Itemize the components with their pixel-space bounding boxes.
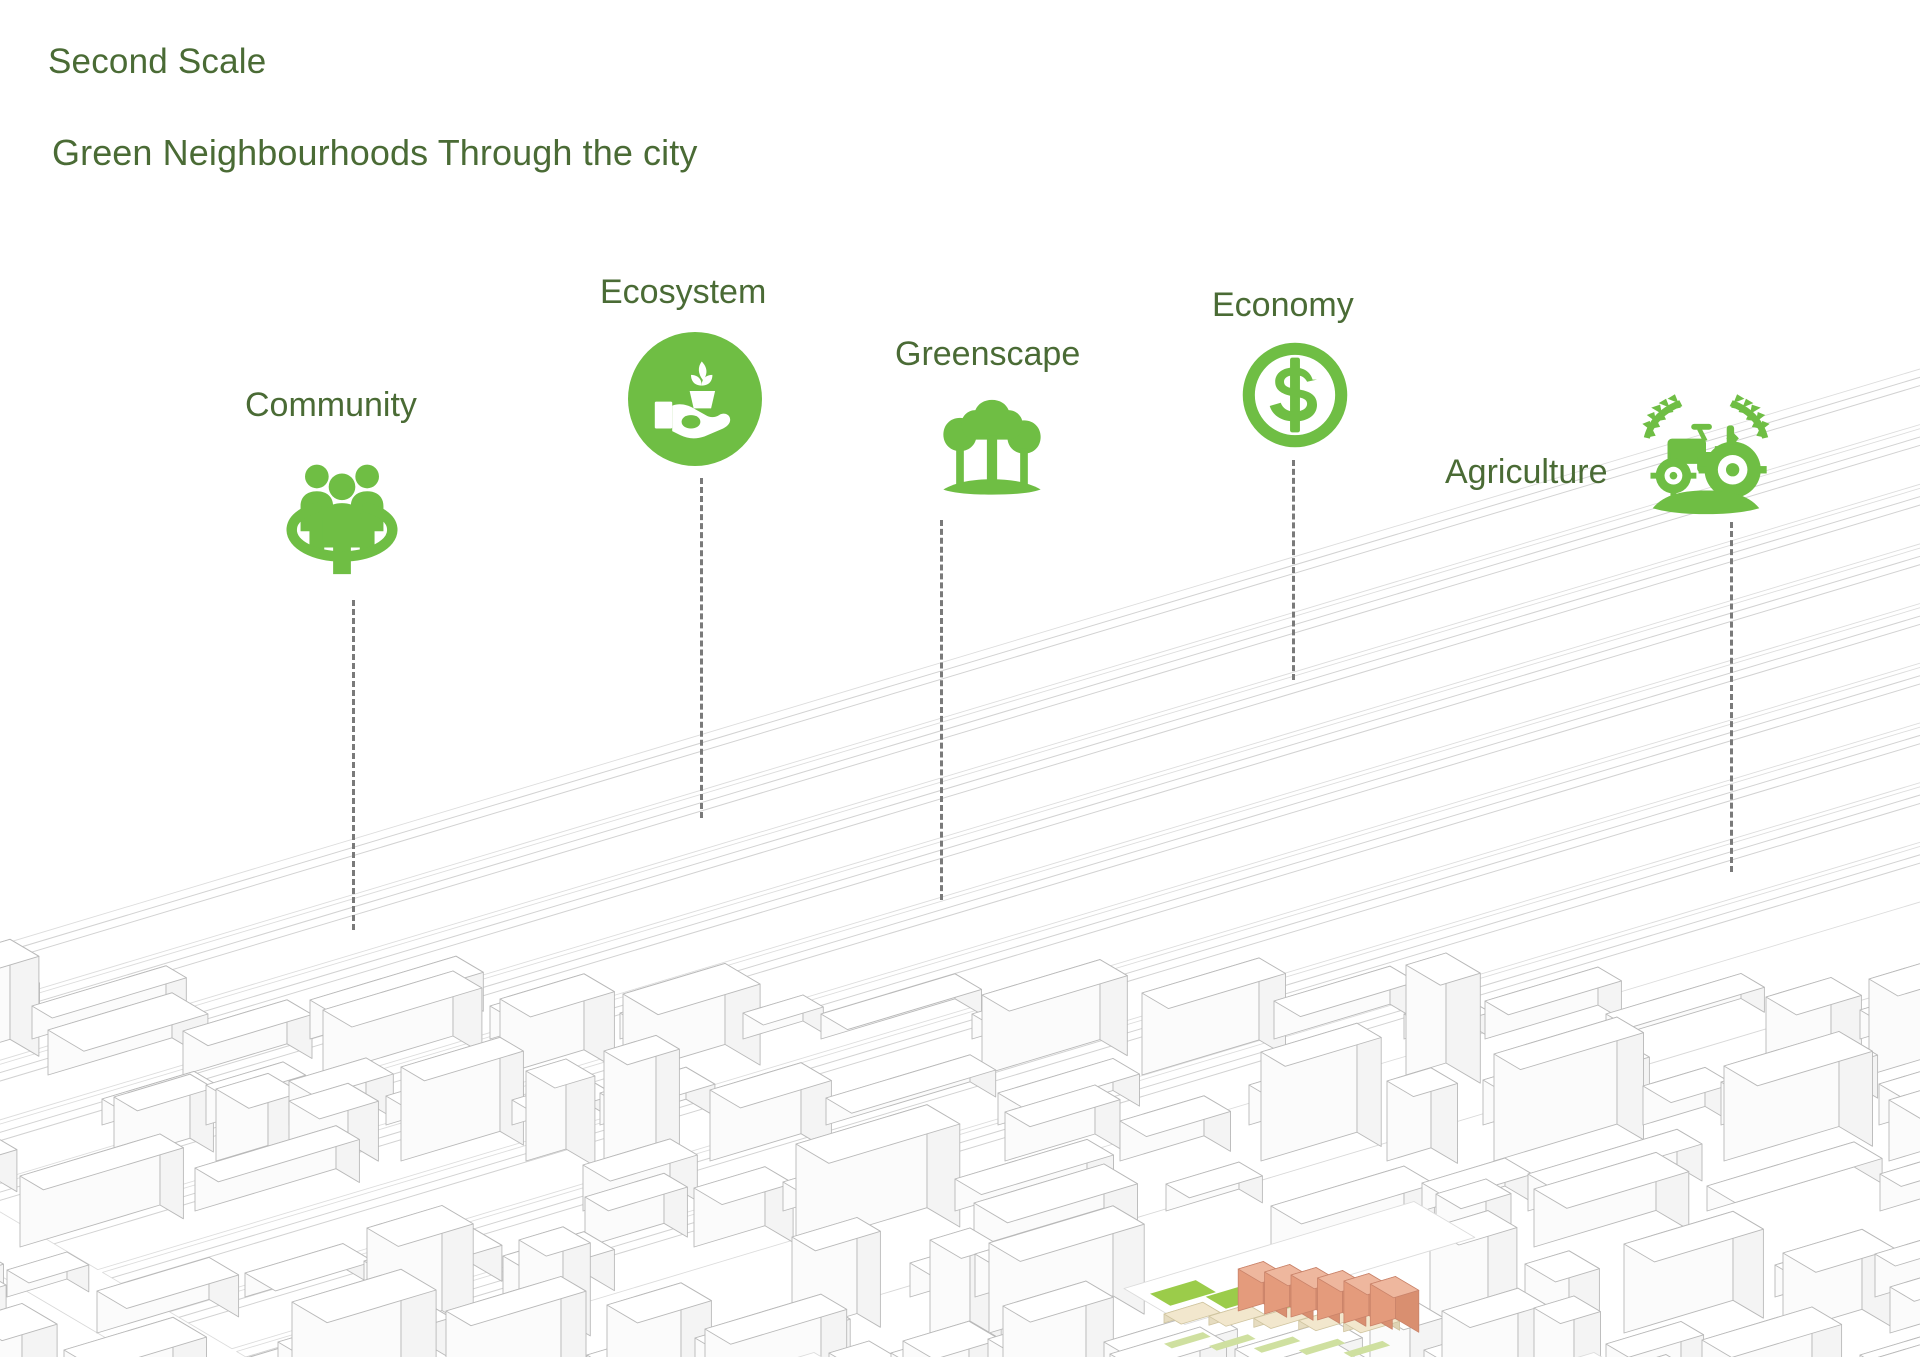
people-group-icon xyxy=(268,438,416,586)
callout-label-ecosystem: Ecosystem xyxy=(600,275,766,309)
hand-holding-plant-icon xyxy=(628,332,762,466)
dollar-coin-icon xyxy=(1240,340,1350,450)
callout-leader-community xyxy=(352,600,355,930)
trees-icon xyxy=(928,382,1056,510)
street-band xyxy=(170,610,1920,1349)
street-band xyxy=(0,491,1920,1230)
callout-leader-economy xyxy=(1292,460,1295,680)
street-band xyxy=(103,570,1920,1309)
callout-label-community: Community xyxy=(245,388,417,422)
city-axonometric-diagram xyxy=(0,0,1920,1357)
callout-leader-ecosystem xyxy=(700,478,703,818)
callout-icon-agriculture[interactable] xyxy=(1632,378,1780,526)
intervention-cluster xyxy=(454,1353,875,1357)
street-band xyxy=(35,531,1920,1270)
callout-label-greenscape: Greenscape xyxy=(895,337,1080,371)
intervention-cluster xyxy=(1234,1353,1655,1357)
callout-label-agriculture: Agriculture xyxy=(1445,455,1608,489)
page-subtitle: Green Neighbourhoods Through the city xyxy=(52,132,697,174)
callout-icon-economy[interactable] xyxy=(1240,340,1350,450)
callout-leader-greenscape xyxy=(940,520,943,900)
callout-icon-greenscape[interactable] xyxy=(928,382,1056,510)
street-band xyxy=(237,650,1920,1357)
callout-icon-community[interactable] xyxy=(268,438,416,586)
page-title: Second Scale xyxy=(48,42,266,82)
intervention-cluster xyxy=(1124,1202,1475,1357)
callout-icon-ecosystem[interactable] xyxy=(628,332,762,466)
callout-leader-agriculture xyxy=(1730,522,1733,872)
callout-label-economy: Economy xyxy=(1212,288,1354,322)
tractor-wheat-icon xyxy=(1632,378,1780,526)
